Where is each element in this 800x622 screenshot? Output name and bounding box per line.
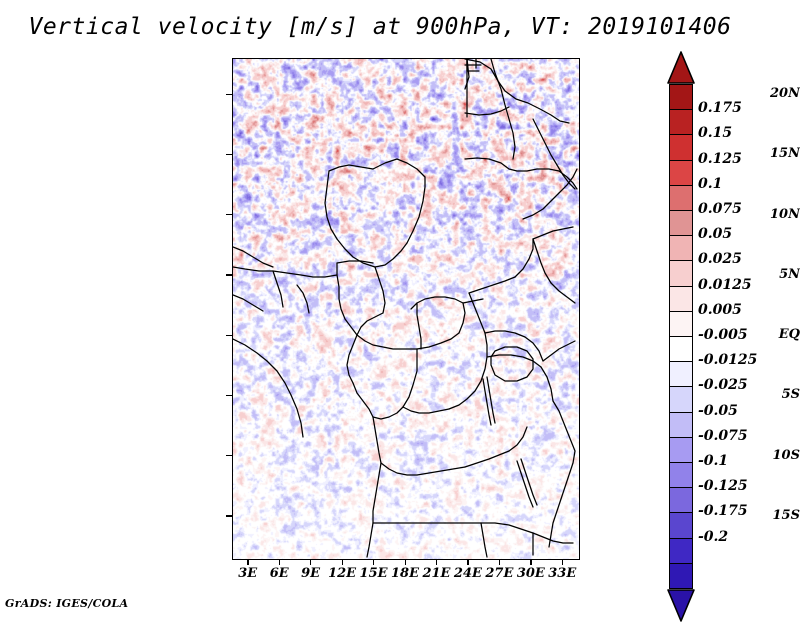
colorbar-tick-label: 0.15: [698, 125, 732, 141]
colorbar-tick-label: 0.1: [698, 176, 722, 192]
x-axis-tick-mark: [499, 559, 500, 565]
colorbar-tick-label: 0.025: [698, 251, 742, 267]
colorbar-tick-label: 0.075: [698, 201, 742, 217]
colorbar-swatch: [669, 412, 693, 439]
y-axis-tick-mark: [226, 274, 232, 275]
colorbar-tick-label: 0.0125: [698, 277, 752, 293]
colorbar-swatch: [669, 462, 693, 489]
y-axis-tick-mark: [226, 335, 232, 336]
colorbar-tick-label: -0.05: [698, 403, 738, 419]
x-axis-tick-mark: [467, 559, 468, 565]
x-axis-tick-mark: [562, 559, 563, 565]
colorbar-swatch: [669, 512, 693, 539]
colorbar-swatch: [669, 210, 693, 237]
colorbar-tick-label: -0.025: [698, 377, 748, 393]
colorbar-swatch: [669, 134, 693, 161]
colorbar-swatch: [669, 185, 693, 212]
colorbar-swatch: [669, 563, 693, 590]
colorbar: 0.1750.150.1250.10.0750.050.0250.01250.0…: [664, 58, 794, 563]
colorbar-tick-label: 0.005: [698, 302, 742, 318]
colorbar-swatch: [669, 286, 693, 313]
y-axis-tick-mark: [226, 455, 232, 456]
x-axis-tick-mark: [279, 559, 280, 565]
colorbar-tick-label: 0.125: [698, 151, 742, 167]
colorbar-tick-label: 0.175: [698, 100, 742, 116]
y-axis-tick-mark: [226, 154, 232, 155]
y-axis-tick-mark: [226, 94, 232, 95]
colorbar-tick-label: 0.05: [698, 226, 732, 242]
colorbar-swatch: [669, 84, 693, 111]
page-title: Vertical velocity [m/s] at 900hPa, VT: 2…: [0, 14, 760, 40]
colorbar-swatch: [669, 109, 693, 136]
colorbar-swatch: [669, 311, 693, 338]
x-axis-tick-mark: [530, 559, 531, 565]
x-axis-tick-mark: [436, 559, 437, 565]
y-axis-tick-mark: [226, 515, 232, 516]
colorbar-tick-label: -0.0125: [698, 352, 757, 368]
colorbar-swatch: [669, 487, 693, 514]
x-axis-tick-mark: [342, 559, 343, 565]
colorbar-swatch: [669, 538, 693, 565]
colorbar-swatch: [669, 336, 693, 363]
colorbar-tick-label: -0.175: [698, 503, 748, 519]
colorbar-tick-label: -0.125: [698, 478, 748, 494]
colorbar-swatch: [669, 160, 693, 187]
country-borders-overlay: [233, 59, 579, 559]
x-axis-tick-mark: [310, 559, 311, 565]
colorbar-tick-label: -0.005: [698, 327, 748, 343]
y-axis-tick-mark: [226, 214, 232, 215]
colorbar-tick-label: -0.2: [698, 529, 728, 545]
colorbar-swatch: [669, 386, 693, 413]
x-axis-tick-label: 33E: [537, 566, 587, 581]
colorbar-swatch: [669, 260, 693, 287]
x-axis-tick-mark: [247, 559, 248, 565]
grads-credit: GrADS: IGES/COLA: [5, 597, 128, 610]
colorbar-swatch: [669, 235, 693, 262]
colorbar-swatch: [669, 437, 693, 464]
colorbar-bottom-arrow-icon: [664, 588, 700, 622]
x-axis-tick-mark: [373, 559, 374, 565]
colorbar-top-arrow-icon: [664, 51, 700, 85]
colorbar-tick-label: -0.1: [698, 453, 728, 469]
map-plot-panel: [232, 58, 580, 560]
y-axis-tick-mark: [226, 395, 232, 396]
colorbar-tick-label: -0.075: [698, 428, 748, 444]
x-axis-tick-mark: [405, 559, 406, 565]
colorbar-swatch: [669, 361, 693, 388]
